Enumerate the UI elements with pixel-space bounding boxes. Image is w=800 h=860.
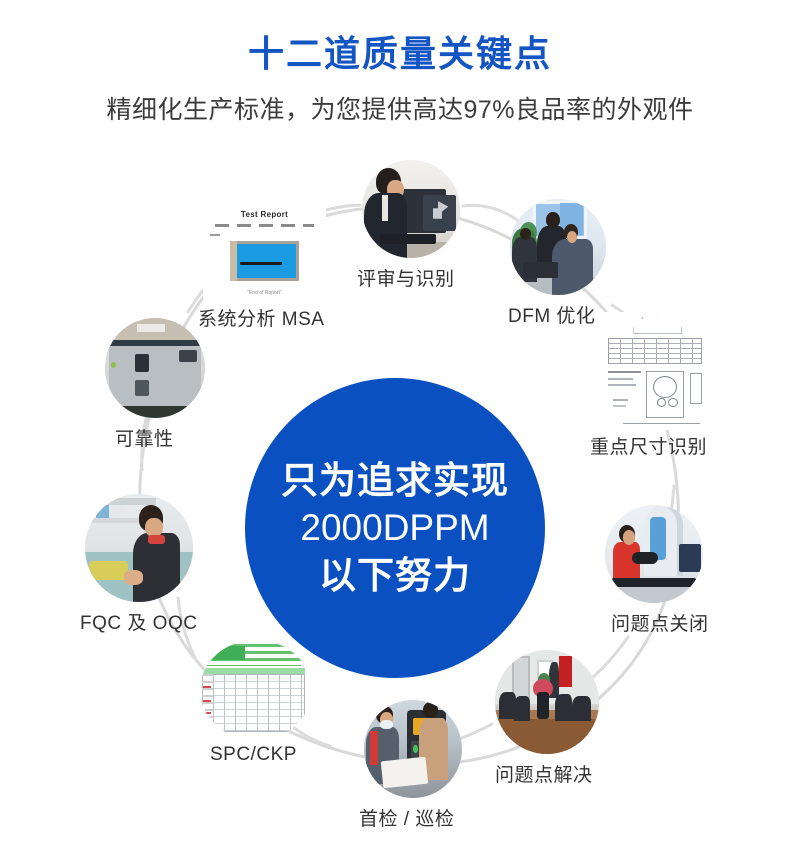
node-dfm-label: DFM 优化 bbox=[508, 301, 595, 328]
node-issue-close-thumbnail bbox=[605, 505, 703, 603]
node-review-thumbnail bbox=[362, 160, 460, 258]
node-issue-solve-thumbnail bbox=[495, 650, 599, 754]
node-reliability-thumbnail bbox=[105, 318, 205, 418]
node-msa[interactable]: Test Report "End of Report" 系统分析 MSA bbox=[203, 196, 326, 302]
page-subtitle: 精细化生产标准，为您提供高达97%良品率的外观件 bbox=[0, 90, 800, 126]
node-first-patrol-label: 首检 / 巡检 bbox=[359, 804, 454, 831]
chart-spc-spreadsheet bbox=[200, 640, 312, 740]
node-issue-close[interactable]: 问题点关闭 bbox=[605, 505, 703, 603]
photo-inspection-bench bbox=[85, 494, 193, 602]
page-title: 十二道质量关键点 bbox=[0, 32, 800, 75]
report-title: Test Report bbox=[203, 210, 326, 219]
node-reliability-label: 可靠性 bbox=[115, 424, 174, 451]
center-line-1: 只为追求实现 bbox=[281, 457, 509, 504]
document-test-report: Test Report "End of Report" bbox=[203, 196, 326, 302]
node-review-label: 评审与识别 bbox=[357, 264, 455, 291]
center-line-3: 以下努力 bbox=[319, 552, 471, 599]
node-spc-ckp-thumbnail bbox=[200, 640, 312, 740]
node-fqc-oqc-thumbnail bbox=[85, 494, 193, 602]
node-issue-close-label: 问题点关闭 bbox=[611, 609, 709, 636]
photo-cmm-operator bbox=[605, 505, 703, 603]
report-footer: "End of Report" bbox=[203, 290, 326, 296]
node-issue-solve[interactable]: 问题点解决 bbox=[495, 650, 599, 754]
photo-test-chamber bbox=[105, 318, 205, 418]
photo-man-at-computer bbox=[362, 160, 460, 258]
node-fqc-oqc[interactable]: FQC 及 OQC bbox=[85, 494, 193, 602]
node-issue-solve-label: 问题点解决 bbox=[495, 760, 593, 787]
photo-cnc-inspection bbox=[364, 700, 462, 798]
node-spc-ckp-label: SPC/CKP bbox=[210, 744, 297, 766]
node-msa-label: 系统分析 MSA bbox=[198, 304, 324, 331]
infographic-canvas: 十二道质量关键点 精细化生产标准，为您提供高达97%良品率的外观件 只为追求实现… bbox=[0, 0, 800, 860]
photo-office-team bbox=[510, 199, 606, 295]
node-first-patrol-thumbnail bbox=[364, 700, 462, 798]
node-fqc-oqc-label: FQC 及 OQC bbox=[80, 608, 197, 635]
node-spc-ckp[interactable]: SPC/CKP bbox=[200, 640, 312, 740]
node-first-patrol[interactable]: 首检 / 巡检 bbox=[364, 700, 462, 798]
center-goal-circle: 只为追求实现 2000DPPM 以下努力 bbox=[245, 378, 545, 678]
node-dfm-thumbnail bbox=[510, 199, 606, 295]
node-reliability[interactable]: 可靠性 bbox=[105, 318, 205, 418]
photo-meeting-room bbox=[495, 650, 599, 754]
node-review[interactable]: 评审与识别 bbox=[362, 160, 460, 258]
node-key-dimension[interactable]: 重点尺寸识别 bbox=[600, 312, 728, 430]
drawing-cad-dimension bbox=[600, 312, 728, 430]
center-line-2: 2000DPPM bbox=[300, 504, 489, 551]
node-key-dimension-label: 重点尺寸识别 bbox=[590, 432, 707, 459]
node-dfm[interactable]: DFM 优化 bbox=[510, 199, 606, 295]
